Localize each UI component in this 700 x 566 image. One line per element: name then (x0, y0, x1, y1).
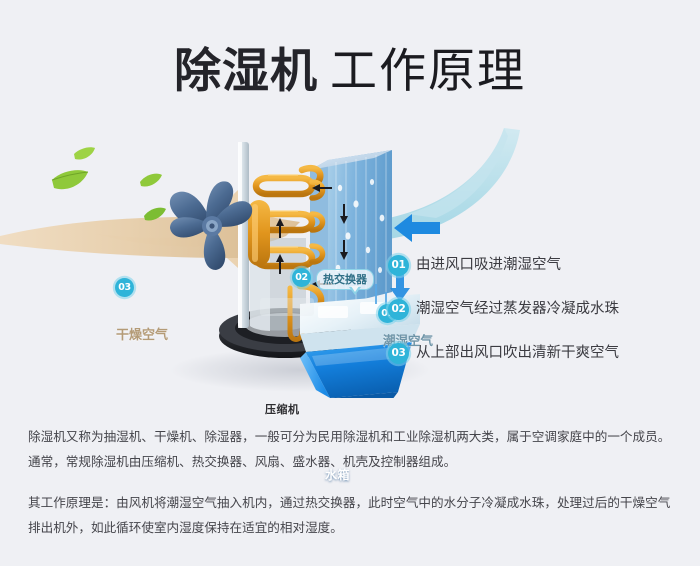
body-paragraph-2: 其工作原理是：由风机将潮湿空气抽入机内，通过热交换器，此时空气中的水分子冷凝成水… (28, 490, 676, 540)
legend-item-03: 03 从上部出风口吹出清新干爽空气 (388, 340, 688, 384)
legend-list: 01 由进风口吸进潮湿空气 02 潮湿空气经过蒸发器冷凝成水珠 03 从上部出风… (388, 252, 688, 384)
diagram-badge-02: 02 (292, 268, 311, 287)
leaf-icon-group (52, 147, 166, 220)
legend-badge-03: 03 (388, 343, 409, 364)
page-title-secondary: 工作原理 (330, 44, 526, 99)
legend-label-01: 由进风口吸进潮湿空气 (416, 254, 561, 276)
label-dry-air: 干燥空气 (116, 324, 168, 343)
body-copy: 除湿机又称为抽湿机、干燥机、除湿器，一般可分为民用除湿机和工业除湿机两大类，属于… (28, 424, 676, 540)
page-root: 除湿机工作原理 (0, 0, 700, 566)
leaf-icon-mid (140, 174, 162, 187)
diagram-badge-03: 03 (115, 278, 134, 297)
compressor-cylinder-hi (252, 204, 258, 262)
legend-item-02: 02 潮湿空气经过蒸发器冷凝成水珠 (388, 296, 688, 340)
housing-vent (318, 306, 348, 318)
leaf-icon-small (74, 147, 95, 159)
cabinet-left-post-hi (238, 142, 242, 328)
body-paragraph-1: 除湿机又称为抽湿机、干燥机、除湿器，一般可分为民用除湿机和工业除湿机两大类，属于… (28, 424, 676, 474)
legend-label-02: 潮湿空气经过蒸发器冷凝成水珠 (416, 298, 619, 320)
legend-label-03: 从上部出风口吹出清新干爽空气 (416, 342, 619, 364)
callout-tail (349, 287, 361, 295)
label-compressor: 压缩机 (265, 401, 300, 417)
callout-heat-exchanger: 热交换器 (316, 269, 374, 290)
legend-badge-01: 01 (388, 255, 409, 276)
page-title-primary: 除湿机 (174, 44, 318, 99)
legend-badge-02: 02 (388, 299, 409, 320)
compressor-label-plate (260, 298, 314, 316)
legend-item-01: 01 由进风口吸进潮湿空气 (388, 252, 688, 296)
page-title: 除湿机工作原理 (0, 32, 700, 101)
